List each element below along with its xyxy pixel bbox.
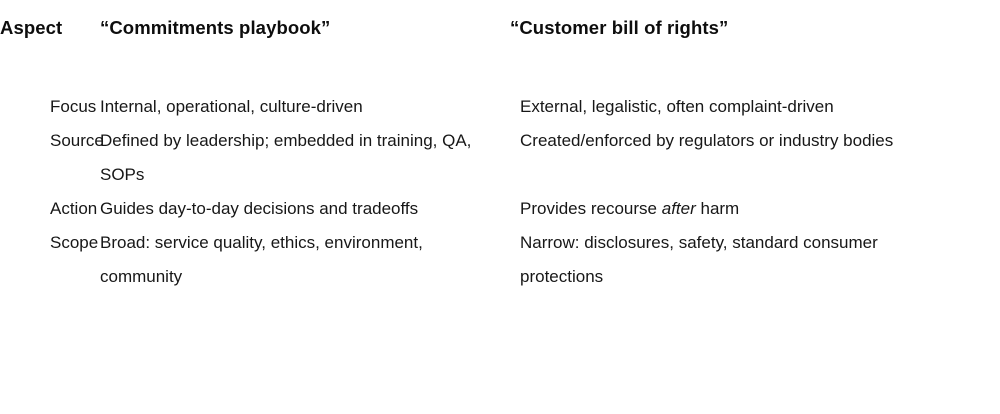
cell-focus-bill-of-rights: External, legalistic, often complaint-dr… [500, 62, 930, 124]
header-spacer [930, 16, 1000, 62]
cell-focus-playbook: Internal, operational, culture-driven [100, 62, 500, 124]
comparison-table: Aspect “Commitments playbook” “Customer … [0, 16, 1000, 294]
table-row: Action Guides day-to-day decisions and t… [0, 192, 1000, 226]
row-label-source: Source [0, 124, 100, 192]
cell-action-text-prefix: Provides recourse [520, 199, 662, 218]
row-label-scope: Scope [0, 226, 100, 294]
column-header-aspect: Aspect [0, 16, 100, 62]
table-row: Focus Internal, operational, culture-dri… [0, 62, 1000, 124]
comparison-table-page: Aspect “Commitments playbook” “Customer … [0, 0, 1000, 414]
cell-action-bill-of-rights: Provides recourse after harm [500, 192, 930, 226]
cell-action-emphasis-after: after [662, 199, 696, 218]
table-header: Aspect “Commitments playbook” “Customer … [0, 16, 1000, 62]
cell-source-bill-of-rights: Created/enforced by regulators or indust… [500, 124, 930, 192]
cell-source-playbook: Defined by leadership; embedded in train… [100, 124, 500, 192]
cell-scope-playbook: Broad: service quality, ethics, environm… [100, 226, 500, 294]
row-label-action: Action [0, 192, 100, 226]
row-spacer [930, 62, 1000, 124]
row-spacer [930, 124, 1000, 192]
cell-action-text-suffix: harm [696, 199, 739, 218]
table-body: Focus Internal, operational, culture-dri… [0, 62, 1000, 294]
table-header-row: Aspect “Commitments playbook” “Customer … [0, 16, 1000, 62]
column-header-commitments-playbook: “Commitments playbook” [100, 16, 500, 62]
row-spacer [930, 192, 1000, 226]
column-header-customer-bill-of-rights: “Customer bill of rights” [500, 16, 930, 62]
cell-scope-bill-of-rights: Narrow: disclosures, safety, standard co… [500, 226, 930, 294]
table-row: Scope Broad: service quality, ethics, en… [0, 226, 1000, 294]
row-spacer [930, 226, 1000, 294]
table-row: Source Defined by leadership; embedded i… [0, 124, 1000, 192]
row-label-focus: Focus [0, 62, 100, 124]
cell-action-playbook: Guides day-to-day decisions and tradeoff… [100, 192, 500, 226]
